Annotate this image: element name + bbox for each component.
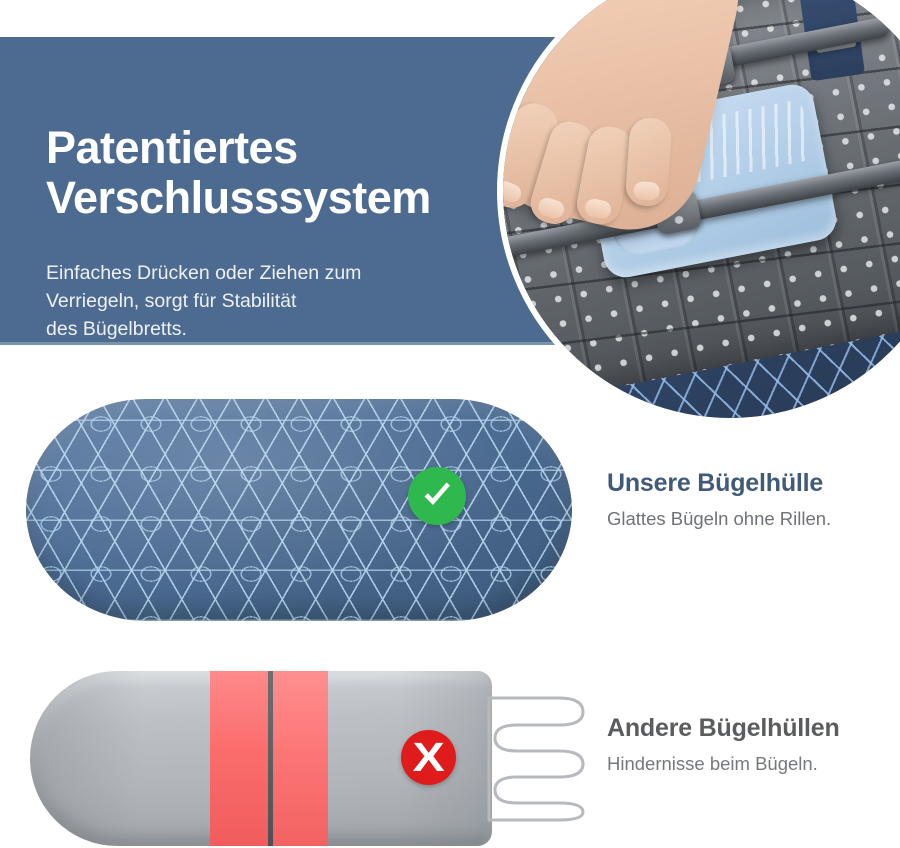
feature-bad: Andere Bügelhüllen Hindernisse beim Büge… xyxy=(607,713,840,776)
feature-good: Unsere Bügelhülle Glattes Bügeln ohne Ri… xyxy=(607,468,831,531)
infographic-canvas: Patentiertes Verschlusssystem Einfaches … xyxy=(0,0,900,848)
photo-fingernail xyxy=(633,181,660,201)
photo-fingernail xyxy=(584,197,613,220)
x-badge-icon: X xyxy=(401,730,456,785)
hero-subtitle: Einfaches Drücken oder Ziehen zum Verrie… xyxy=(46,259,476,343)
feature-bad-description: Hindernisse beim Bügeln. xyxy=(607,752,840,776)
check-badge-icon xyxy=(408,467,466,525)
hero-title-line1: Patentiertes xyxy=(46,122,298,173)
photo-screw xyxy=(673,214,684,225)
feature-good-description: Glattes Bügeln ohne Rillen. xyxy=(607,507,831,531)
photo-fingernail xyxy=(503,178,524,204)
x-badge-glyph: X xyxy=(412,737,444,778)
cover-sheen xyxy=(26,399,572,621)
feature-bad-heading: Andere Bügelhüllen xyxy=(607,713,840,743)
cover-tip-shading xyxy=(30,671,180,846)
hero-title: Patentiertes Verschlusssystem xyxy=(46,123,516,224)
photo-fingernail xyxy=(536,196,566,221)
hero-subtitle-line2: Verriegeln, sorgt für Stabilität xyxy=(46,287,476,315)
hero-subtitle-line1: Einfaches Drücken oder Ziehen zum xyxy=(46,259,476,287)
product-photo xyxy=(503,0,900,418)
feature-good-heading: Unsere Bügelhülle xyxy=(607,468,831,498)
hero-subtitle-line3: des Bügelbretts. xyxy=(46,315,476,343)
wire-iron-rest xyxy=(487,692,592,825)
cover-red-band-right xyxy=(273,671,328,846)
hero-title-line2: Verschlusssystem xyxy=(46,173,516,223)
photo-finger xyxy=(625,117,673,208)
cover-red-band-left xyxy=(210,671,268,846)
product-photo-circle xyxy=(497,0,900,424)
our-ironing-board-cover xyxy=(26,399,572,621)
